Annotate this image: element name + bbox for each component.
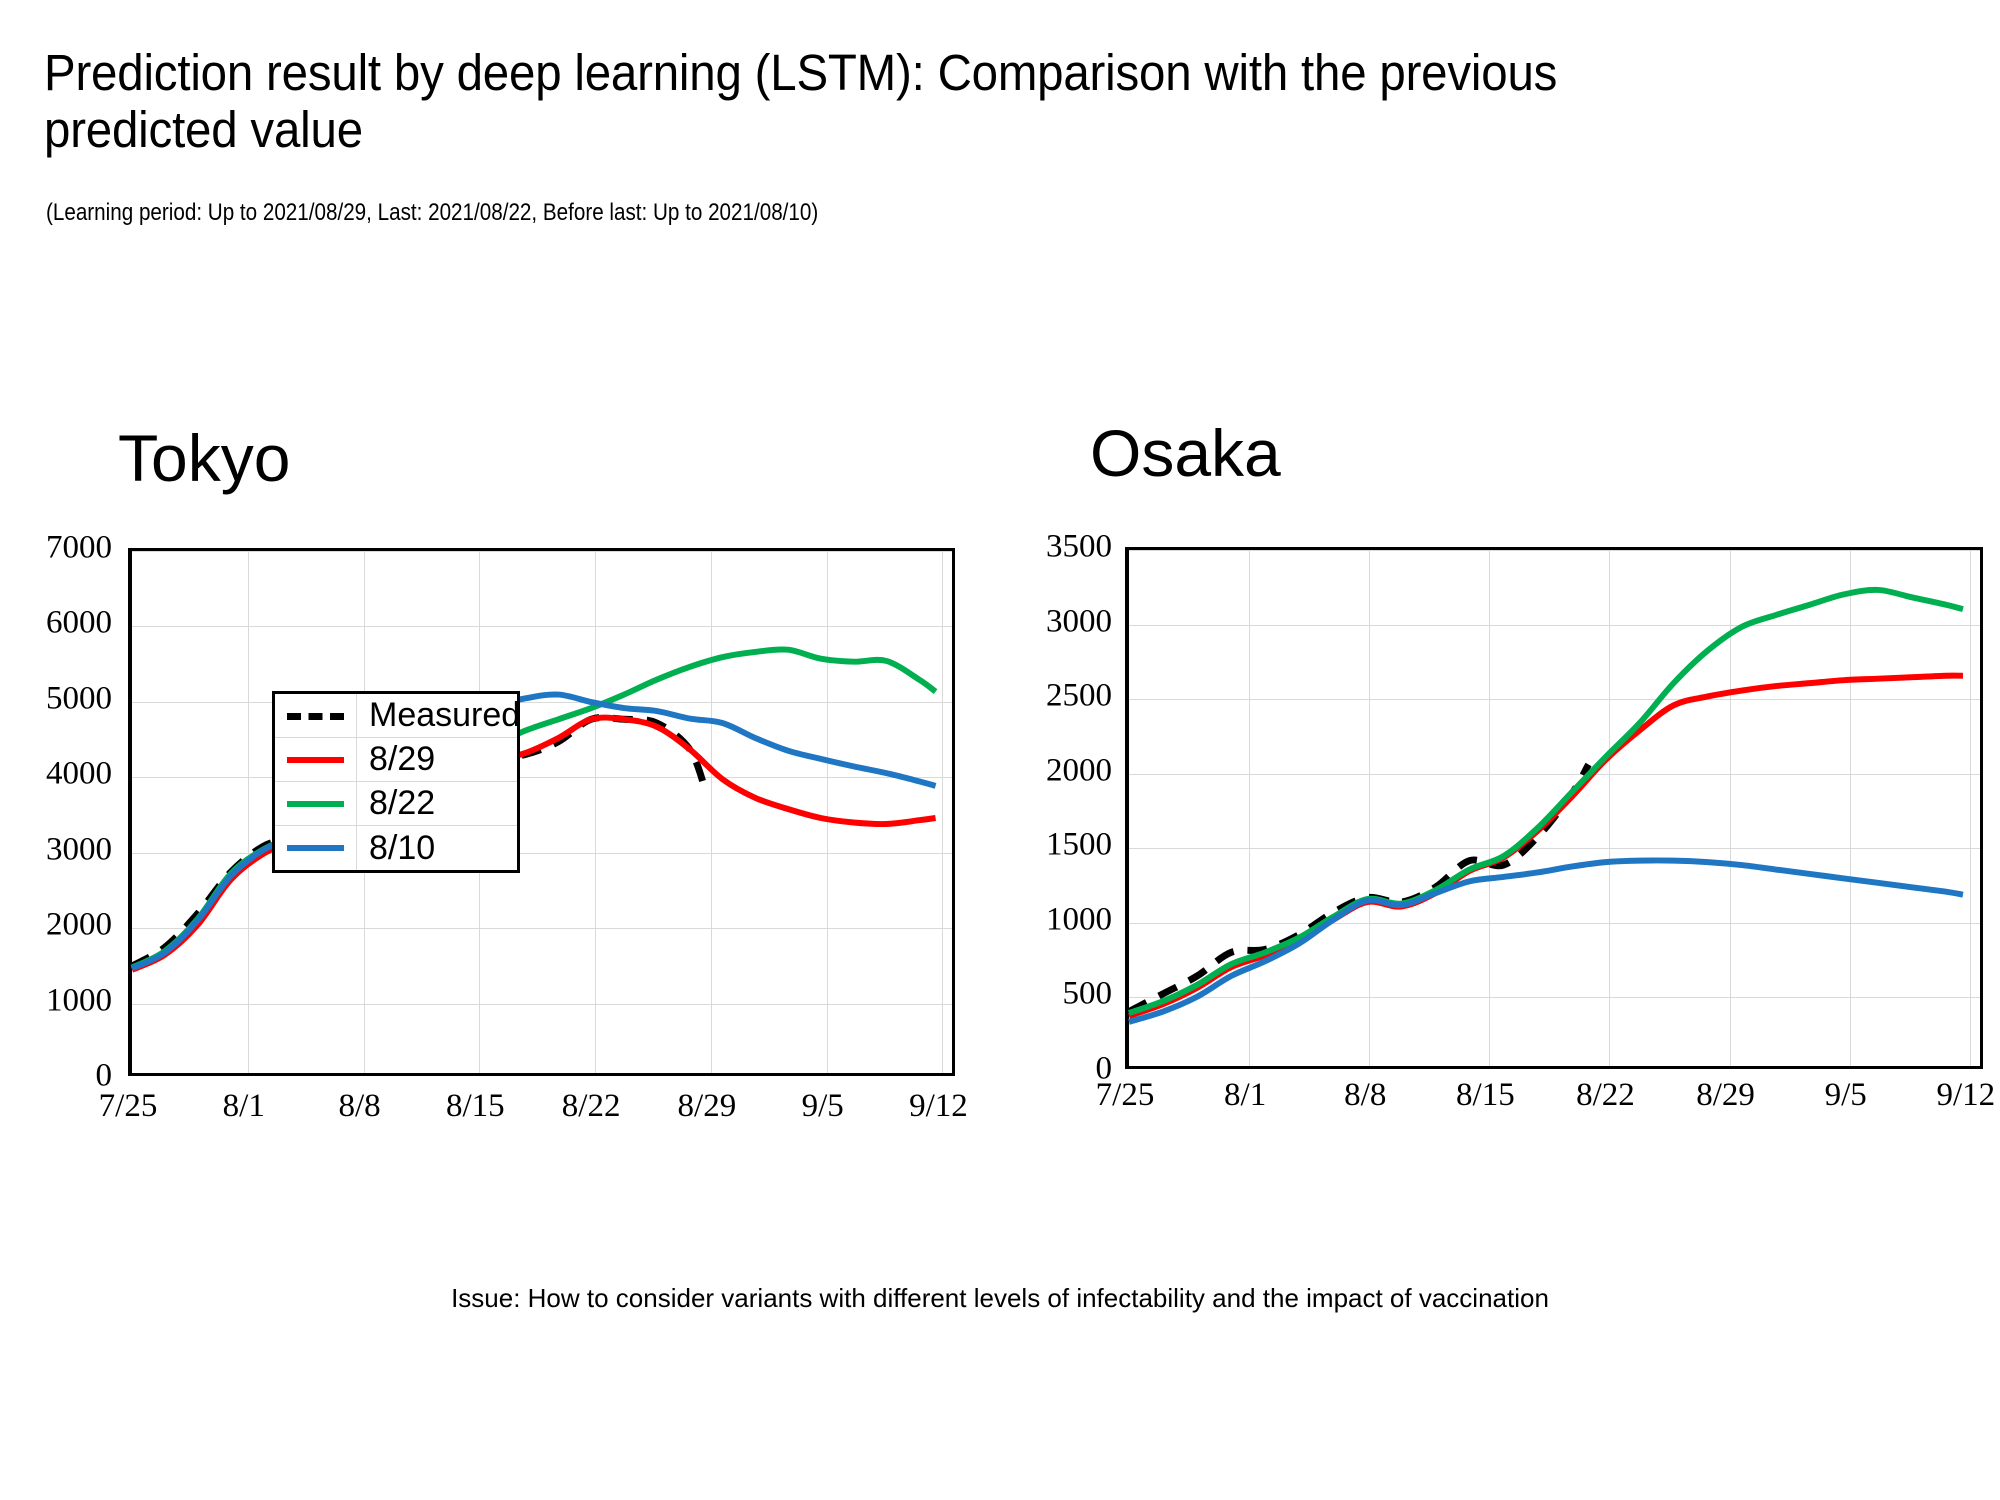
- x-tick-label: 9/12: [909, 1088, 968, 1125]
- legend-item-8-29[interactable]: 8/29: [275, 738, 517, 782]
- page-title: Prediction result by deep learning (LSTM…: [44, 44, 1737, 158]
- y-tick-label: 2000: [46, 907, 112, 944]
- y-tick-label: 500: [1063, 976, 1113, 1013]
- legend-line-red-icon: [275, 738, 357, 781]
- legend-line-green-icon: [275, 782, 357, 825]
- x-tick-label: 8/1: [1224, 1077, 1266, 1114]
- y-axis-osaka: 3500300025002000150010005000: [1020, 547, 1112, 1069]
- x-tick-label: 9/5: [1825, 1077, 1867, 1114]
- plot-area-osaka: [1125, 547, 1983, 1069]
- legend-label: 8/29: [357, 740, 435, 779]
- plot-area-tokyo: Measured 8/29 8/22 8/10: [128, 548, 955, 1076]
- legend-item-8-10[interactable]: 8/10: [275, 826, 517, 870]
- legend-item-8-22[interactable]: 8/22: [275, 782, 517, 826]
- x-tick-label: 9/12: [1936, 1077, 1995, 1114]
- legend-label: 8/10: [357, 829, 435, 868]
- x-tick-label: 8/15: [446, 1088, 505, 1125]
- chart-tokyo: 70006000500040003000200010000 Measured 8…: [0, 420, 980, 920]
- x-tick-label: 9/5: [802, 1088, 844, 1125]
- y-tick-label: 1000: [1046, 901, 1112, 938]
- y-tick-label: 3000: [1046, 603, 1112, 640]
- series-line-8-10: [1129, 860, 1963, 1021]
- legend-line-blue-icon: [275, 826, 357, 870]
- legend-tokyo: Measured 8/29 8/22 8/10: [272, 691, 520, 873]
- legend-line-dashed-icon: [275, 694, 357, 737]
- y-tick-label: 4000: [46, 756, 112, 793]
- y-tick-label: 1000: [46, 982, 112, 1019]
- x-tick-label: 8/8: [1344, 1077, 1386, 1114]
- x-tick-label: 8/22: [562, 1088, 621, 1125]
- x-tick-label: 8/29: [678, 1088, 737, 1125]
- y-tick-label: 6000: [46, 605, 112, 642]
- x-tick-label: 8/22: [1576, 1077, 1635, 1114]
- x-tick-label: 7/25: [99, 1088, 158, 1125]
- y-tick-label: 7000: [46, 530, 112, 567]
- x-tick-label: 8/1: [223, 1088, 265, 1125]
- y-tick-label: 1500: [1046, 827, 1112, 864]
- chart-osaka: 3500300025002000150010005000 7/258/18/88…: [1020, 415, 2000, 915]
- y-axis-tokyo: 70006000500040003000200010000: [0, 548, 112, 1076]
- y-tick-label: 3000: [46, 831, 112, 868]
- y-tick-label: 2500: [1046, 678, 1112, 715]
- legend-label: Measured: [357, 696, 520, 735]
- y-tick-label: 2000: [1046, 752, 1112, 789]
- series-lines-osaka: [1129, 550, 1980, 1068]
- x-axis-osaka: 7/258/18/88/158/228/299/59/12: [1125, 1077, 1983, 1121]
- legend-label: 8/22: [357, 784, 435, 823]
- footer-note: Issue: How to consider variants with dif…: [0, 1283, 2000, 1314]
- x-tick-label: 7/25: [1096, 1077, 1155, 1114]
- x-axis-tokyo: 7/258/18/88/158/228/299/59/12: [128, 1088, 955, 1132]
- y-tick-label: 5000: [46, 680, 112, 717]
- series-line-8-10: [132, 694, 936, 968]
- page-subtitle: (Learning period: Up to 2021/08/29, Last…: [46, 200, 818, 226]
- x-tick-label: 8/8: [338, 1088, 380, 1125]
- series-line-Measured: [1129, 764, 1589, 1011]
- x-tick-label: 8/29: [1696, 1077, 1755, 1114]
- legend-item-measured[interactable]: Measured: [275, 694, 517, 738]
- x-tick-label: 8/15: [1456, 1077, 1515, 1114]
- series-lines-tokyo: [132, 551, 952, 1075]
- y-tick-label: 3500: [1046, 529, 1112, 566]
